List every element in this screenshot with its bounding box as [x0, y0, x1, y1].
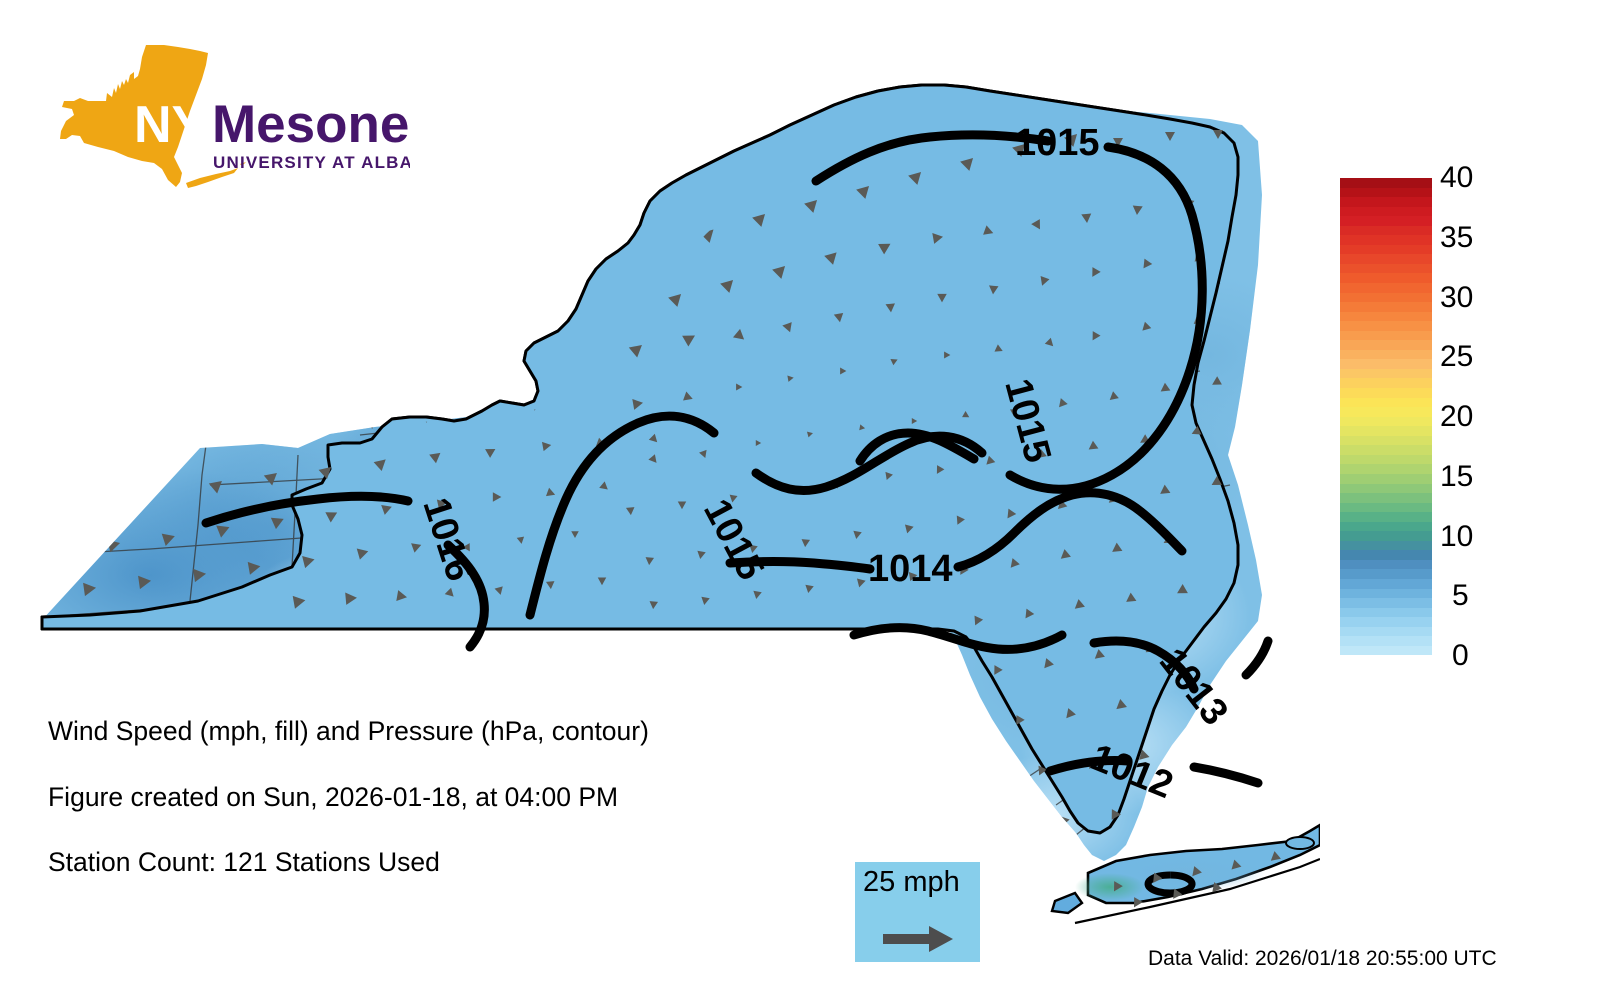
colorbar-band — [1340, 188, 1432, 198]
colorbar-tick-0: 0 — [1452, 641, 1469, 671]
colorbar-band — [1340, 407, 1432, 417]
colorbar-band — [1340, 617, 1432, 627]
contour-label-1014: 1014 — [868, 548, 953, 590]
colorbar-band — [1340, 178, 1432, 188]
colorbar-tick-25: 25 — [1440, 342, 1473, 372]
colorbar-tick-20: 20 — [1440, 402, 1473, 432]
colorbar-band — [1340, 216, 1432, 226]
colorbar-band — [1340, 321, 1432, 331]
colorbar-band — [1340, 350, 1432, 360]
colorbar-band — [1340, 245, 1432, 255]
colorbar-band — [1340, 207, 1432, 217]
contour-label-1015-north: 1015 — [1015, 122, 1100, 164]
colorbar-tick-labels: 4035302520151050 — [1440, 160, 1560, 680]
colorbar-band — [1340, 455, 1432, 465]
colorbar-band — [1340, 541, 1432, 551]
colorbar-band — [1340, 369, 1432, 379]
colorbar-band — [1340, 579, 1432, 589]
colorbar-tick-5: 5 — [1452, 581, 1469, 611]
colorbar-band — [1340, 445, 1432, 455]
caption-station-count: Station Count: 121 Stations Used — [48, 849, 848, 876]
colorbar-band — [1340, 608, 1432, 618]
colorbar-tick-40: 40 — [1440, 163, 1473, 193]
wind-speed-reference-key: 25 mph — [855, 862, 980, 962]
colorbar-tick-15: 15 — [1440, 462, 1473, 492]
colorbar-band — [1340, 340, 1432, 350]
colorbar-band — [1340, 197, 1432, 207]
colorbar-band — [1340, 464, 1432, 474]
colorbar-band — [1340, 235, 1432, 245]
colorbar-band — [1340, 226, 1432, 236]
colorbar-band — [1340, 293, 1432, 303]
colorbar-band — [1340, 493, 1432, 503]
caption-created: Figure created on Sun, 2026-01-18, at 04… — [48, 784, 848, 811]
colorbar-band — [1340, 531, 1432, 541]
colorbar-band — [1340, 474, 1432, 484]
colorbar-band — [1340, 312, 1432, 322]
colorbar-band — [1340, 398, 1432, 408]
colorbar-band — [1340, 273, 1432, 283]
colorbar-band — [1340, 627, 1432, 637]
colorbar-band — [1340, 598, 1432, 608]
colorbar-band — [1340, 359, 1432, 369]
colorbar-band — [1340, 302, 1432, 312]
colorbar-tick-35: 35 — [1440, 223, 1473, 253]
colorbar-band — [1340, 331, 1432, 341]
caption-title: Wind Speed (mph, fill) and Pressure (hPa… — [48, 718, 848, 745]
colorbar-band — [1340, 283, 1432, 293]
colorbar-band — [1340, 388, 1432, 398]
colorbar-band — [1340, 484, 1432, 494]
colorbar-tick-30: 30 — [1440, 283, 1473, 313]
data-valid-timestamp: Data Valid: 2026/01/18 20:55:00 UTC — [1148, 948, 1497, 969]
wind-key-arrow-icon — [883, 924, 955, 954]
colorbar-band — [1340, 550, 1432, 560]
colorbar-band — [1340, 254, 1432, 264]
colorbar-band — [1340, 426, 1432, 436]
colorbar-band — [1340, 522, 1432, 532]
colorbar-band — [1340, 589, 1432, 599]
colorbar-band — [1340, 264, 1432, 274]
colorbar-band — [1340, 417, 1432, 427]
weather-map-figure: NYS Mesonet UNIVERSITY AT ALBANY — [0, 0, 1600, 1000]
colorbar-band — [1340, 569, 1432, 579]
colorbar-band — [1340, 646, 1432, 656]
colorbar-band — [1340, 503, 1432, 513]
wind-speed-colorbar — [1340, 178, 1432, 656]
colorbar-band — [1340, 378, 1432, 388]
colorbar-band — [1340, 560, 1432, 570]
colorbar-band — [1340, 436, 1432, 446]
figure-caption: Wind Speed (mph, fill) and Pressure (hPa… — [48, 718, 848, 915]
wind-key-label: 25 mph — [863, 868, 960, 897]
colorbar-tick-10: 10 — [1440, 522, 1473, 552]
colorbar-band — [1340, 512, 1432, 522]
colorbar-band — [1340, 636, 1432, 646]
